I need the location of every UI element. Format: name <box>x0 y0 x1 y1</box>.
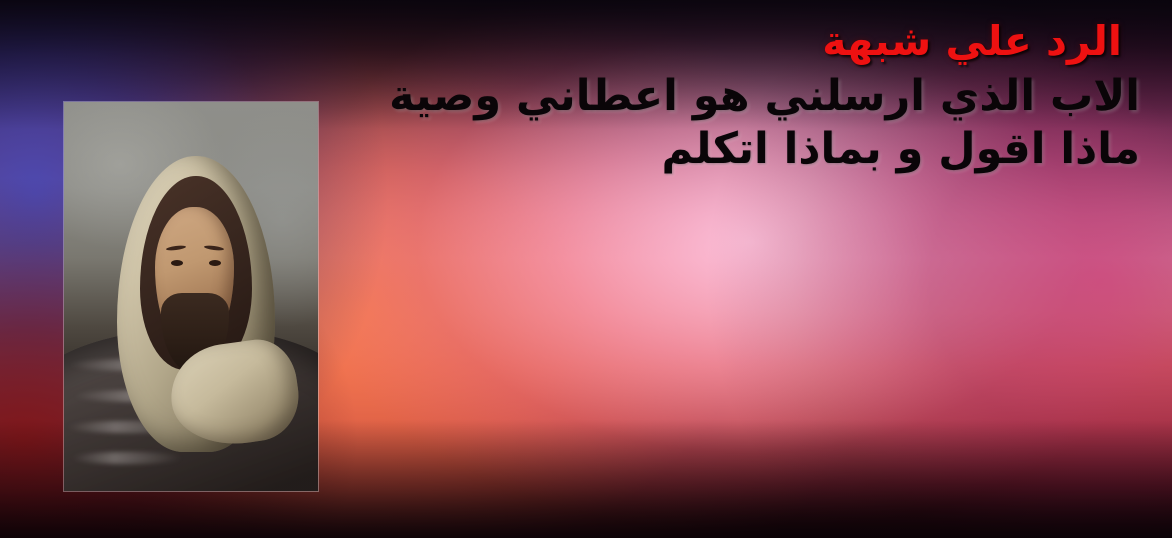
eye-right <box>209 260 221 266</box>
eye-left <box>171 260 183 266</box>
banner-image: الرد علي شبهة الاب الذي ارسلني هو اعطاني… <box>0 0 1172 538</box>
portrait-photo-frame <box>64 102 318 491</box>
headline-title: الرد علي شبهة <box>400 18 1140 66</box>
headline-line-2: ماذا اقول و بماذا اتكلم <box>400 125 1140 175</box>
headline-text-block: الرد علي شبهة الاب الذي ارسلني هو اعطاني… <box>400 18 1140 175</box>
portrait-photo <box>64 102 318 491</box>
headline-line-1: الاب الذي ارسلني هو اعطاني وصية <box>400 72 1140 122</box>
